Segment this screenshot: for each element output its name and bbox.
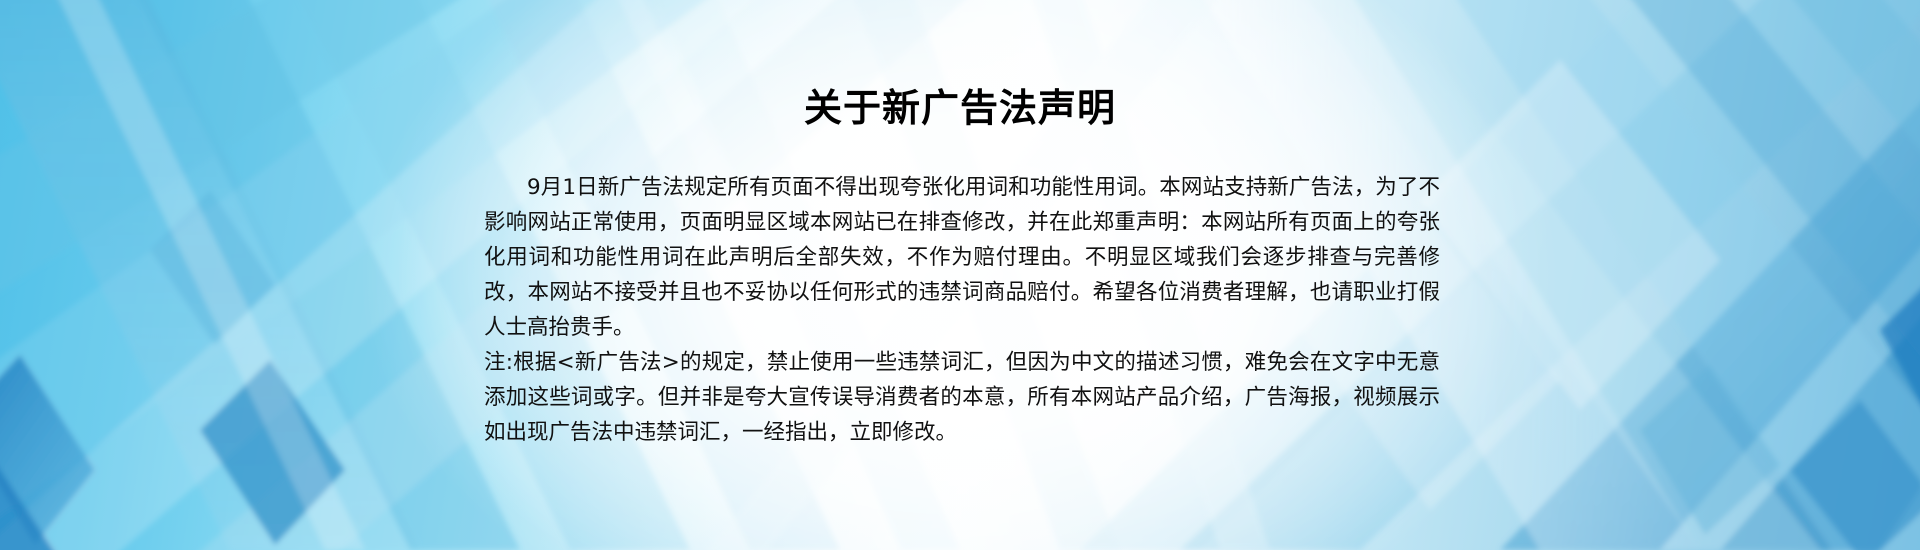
statement-paragraph-1: 9月1日新广告法规定所有页面不得出现夸张化用词和功能性用词。本网站支持新广告法，… — [484, 170, 1440, 345]
page-title: 关于新广告法声明 — [0, 86, 1920, 132]
advertising-law-statement-banner: 关于新广告法声明 9月1日新广告法规定所有页面不得出现夸张化用词和功能性用词。本… — [0, 0, 1920, 550]
statement-body: 9月1日新广告法规定所有页面不得出现夸张化用词和功能性用词。本网站支持新广告法，… — [484, 170, 1440, 450]
statement-paragraph-2: 注:根据<新广告法>的规定，禁止使用一些违禁词汇，但因为中文的描述习惯，难免会在… — [484, 345, 1440, 450]
statement-content: 关于新广告法声明 9月1日新广告法规定所有页面不得出现夸张化用词和功能性用词。本… — [0, 0, 1920, 550]
